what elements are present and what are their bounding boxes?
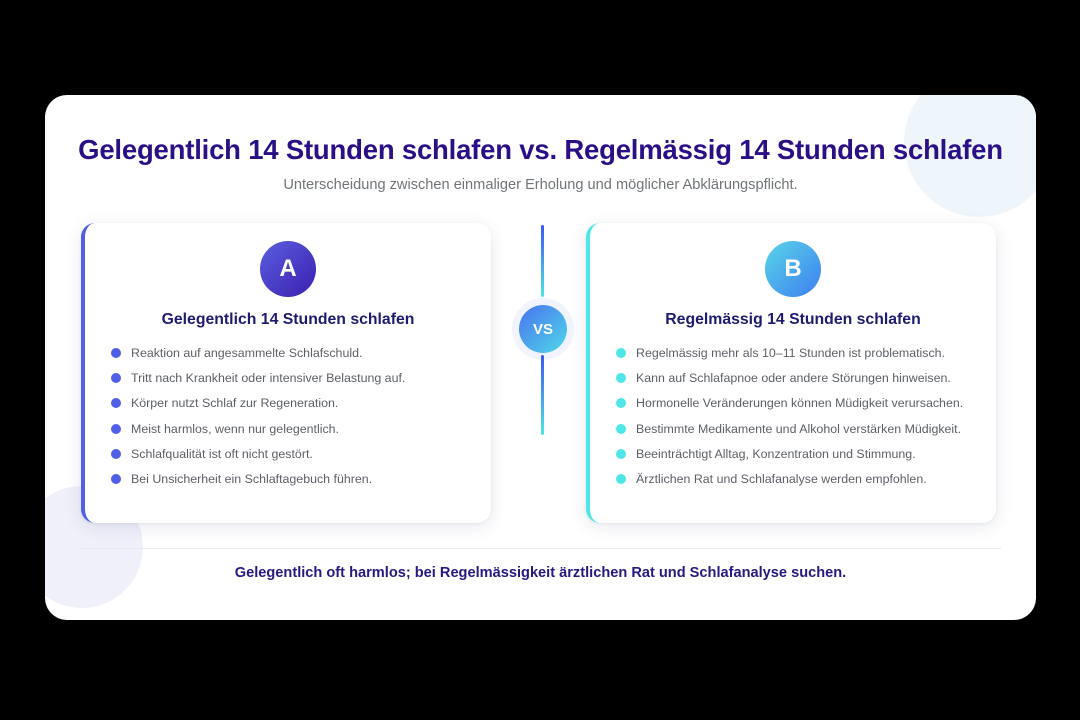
bullet-dot-icon — [616, 348, 626, 358]
bullet-dot-icon — [111, 449, 121, 459]
list-item-label: Beeinträchtigt Alltag, Konzentration und… — [636, 447, 916, 461]
list-item: Hormonelle Veränderungen können Müdigkei… — [616, 396, 980, 421]
card-a-bullet-list: Reaktion auf angesammelte Schlafschuld. … — [111, 346, 475, 497]
list-item: Ärztlichen Rat und Schlafanalyse werden … — [616, 472, 980, 497]
bullet-dot-icon — [616, 373, 626, 383]
list-item: Bei Unsicherheit ein Schlaftagebuch führ… — [111, 472, 475, 497]
card-a-title: Gelegentlich 14 Stunden schlafen — [95, 311, 481, 329]
screenshot-canvas: Gelegentlich 14 Stunden schlafen vs. Reg… — [0, 0, 1080, 720]
card-b-badge: B — [765, 241, 821, 297]
card-a-badge: A — [260, 241, 316, 297]
bullet-dot-icon — [616, 398, 626, 408]
bullet-dot-icon — [111, 398, 121, 408]
list-item-label: Tritt nach Krankheit oder intensiver Bel… — [131, 371, 405, 385]
list-item: Regelmässig mehr als 10–11 Stunden ist p… — [616, 346, 980, 371]
list-item: Schlafqualität ist oft nicht gestört. — [111, 447, 475, 472]
vs-line-top — [541, 225, 544, 297]
list-item: Körper nutzt Schlaf zur Regeneration. — [111, 396, 475, 421]
page-subtitle: Unterscheidung zwischen einmaliger Erhol… — [45, 177, 1036, 193]
footer-divider — [81, 548, 1001, 549]
bullet-dot-icon — [111, 373, 121, 383]
comparison-card-a[interactable]: A Gelegentlich 14 Stunden schlafen Reakt… — [81, 223, 491, 523]
list-item-label: Ärztlichen Rat und Schlafanalyse werden … — [636, 472, 927, 486]
vs-badge: VS — [519, 305, 567, 353]
page-title: Gelegentlich 14 Stunden schlafen vs. Reg… — [45, 134, 1036, 166]
list-item: Meist harmlos, wenn nur gelegentlich. — [111, 422, 475, 447]
list-item-label: Bei Unsicherheit ein Schlaftagebuch führ… — [131, 472, 372, 486]
bullet-dot-icon — [111, 424, 121, 434]
list-item-label: Schlafqualität ist oft nicht gestört. — [131, 447, 313, 461]
vs-line-bottom — [541, 355, 544, 435]
card-b-bullet-list: Regelmässig mehr als 10–11 Stunden ist p… — [616, 346, 980, 497]
comparison-area: A Gelegentlich 14 Stunden schlafen Reakt… — [45, 223, 1036, 523]
list-item: Beeinträchtigt Alltag, Konzentration und… — [616, 447, 980, 472]
bullet-dot-icon — [616, 474, 626, 484]
bullet-dot-icon — [616, 449, 626, 459]
comparison-panel: Gelegentlich 14 Stunden schlafen vs. Reg… — [45, 95, 1036, 620]
list-item: Tritt nach Krankheit oder intensiver Bel… — [111, 371, 475, 396]
bullet-dot-icon — [111, 348, 121, 358]
list-item: Bestimmte Medikamente und Alkohol verstä… — [616, 422, 980, 447]
list-item-label: Regelmässig mehr als 10–11 Stunden ist p… — [636, 346, 945, 360]
bullet-dot-icon — [616, 424, 626, 434]
list-item-label: Reaktion auf angesammelte Schlafschuld. — [131, 346, 362, 360]
list-item-label: Meist harmlos, wenn nur gelegentlich. — [131, 422, 339, 436]
footer-note: Gelegentlich oft harmlos; bei Regelmässi… — [45, 565, 1036, 581]
list-item-label: Körper nutzt Schlaf zur Regeneration. — [131, 396, 338, 410]
list-item-label: Hormonelle Veränderungen können Müdigkei… — [636, 396, 963, 410]
list-item: Kann auf Schlafapnoe oder andere Störung… — [616, 371, 980, 396]
list-item-label: Bestimmte Medikamente und Alkohol verstä… — [636, 422, 961, 436]
list-item: Reaktion auf angesammelte Schlafschuld. — [111, 346, 475, 371]
list-item-label: Kann auf Schlafapnoe oder andere Störung… — [636, 371, 951, 385]
comparison-card-b[interactable]: B Regelmässig 14 Stunden schlafen Regelm… — [586, 223, 996, 523]
bullet-dot-icon — [111, 474, 121, 484]
card-b-title: Regelmässig 14 Stunden schlafen — [600, 311, 986, 329]
